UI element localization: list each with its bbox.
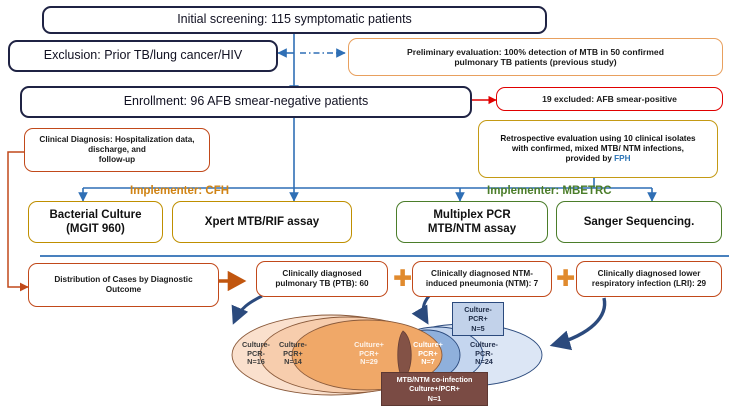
pcr-box-line-1: Culture- [464, 305, 492, 314]
assay-box-sanger: Sanger Sequencing. [556, 201, 722, 243]
preliminary-evaluation-box: Preliminary evaluation: 100% detection o… [348, 38, 723, 76]
plus-icon-1: ✚ [393, 268, 412, 291]
retrospective-line-3-prefix: provided by [565, 154, 614, 163]
flowchart-canvas: Initial screening: 115 symptomatic patie… [0, 0, 729, 410]
outcome-0-line-2: pulmonary TB (PTB): 60 [275, 279, 368, 289]
excluded-smear-positive-label: 19 excluded: AFB smear-positive [542, 94, 677, 104]
outcome-2-line-2: respiratory infection (LRI): 29 [592, 279, 706, 289]
fph-highlight: FPH [614, 154, 630, 163]
outcome-box-lri: Clinically diagnosed lower respiratory i… [576, 261, 722, 297]
distribution-line-1: Distribution of Cases by Diagnostic [54, 275, 192, 285]
assay-box-bacterial-culture: Bacterial Culture (MGIT 960) [28, 201, 163, 243]
venn-ptb-2-line-3: N=29 [347, 358, 391, 367]
assay-box-multiplex-pcr: Multiplex PCR MTB/NTM assay [396, 201, 548, 243]
coinfection-line-3: N=1 [428, 394, 441, 403]
outcome-2-line-1: Clinically diagnosed lower [598, 269, 701, 279]
outcome-0-line-1: Clinically diagnosed [282, 269, 361, 279]
coinfection-line-1: MTB/NTM co-infection [397, 375, 473, 384]
outcome-box-ntm: Clinically diagnosed NTM- induced pneumo… [412, 261, 552, 297]
outcome-1-line-1: Clinically diagnosed NTM- [431, 269, 533, 279]
venn-ptb-1-line-3: N=14 [273, 358, 313, 367]
assay-1-line-1: Xpert MTB/RIF assay [205, 215, 319, 229]
clinical-diagnosis-line-2: follow-up [99, 155, 135, 165]
implementer-mbetrc-label: Implementer: MBETRC [487, 185, 612, 197]
retrospective-line-3: provided by FPH [565, 154, 630, 164]
preliminary-line-1: Preliminary evaluation: 100% detection o… [407, 47, 664, 57]
assay-box-xpert: Xpert MTB/RIF assay [172, 201, 352, 243]
enrollment-label: Enrollment: 96 AFB smear-negative patien… [124, 94, 369, 109]
implementer-cfh-label: Implementer: CFH [130, 185, 229, 197]
initial-screening-box: Initial screening: 115 symptomatic patie… [42, 6, 547, 34]
venn-callout-coinfection: MTB/NTM co-infection Culture+/PCR+ N=1 [381, 372, 488, 406]
venn-ptb-0-line-3: N=16 [236, 358, 276, 367]
assay-2-line-1: Multiplex PCR [433, 208, 510, 222]
pcr-box-line-2: PCR+ [468, 314, 487, 323]
pcr-box-line-3: N=5 [471, 324, 484, 333]
distribution-line-2: Outcome [106, 285, 142, 295]
exclusion-box: Exclusion: Prior TB/lung cancer/HIV [8, 40, 278, 72]
venn-label-ptb-culture-neg-pcr-neg: Culture- PCR- N=16 [236, 341, 276, 367]
assay-3-line-1: Sanger Sequencing. [584, 215, 695, 229]
excluded-smear-positive-box: 19 excluded: AFB smear-positive [496, 87, 723, 111]
venn-label-ptb-culture-pos-pcr-pos: Culture+ PCR+ N=29 [347, 341, 391, 367]
clinical-diagnosis-box: Clinical Diagnosis: Hospitalization data… [24, 128, 210, 172]
retrospective-line-1: Retrospective evaluation using 10 clinic… [500, 134, 695, 144]
outcome-box-ptb: Clinically diagnosed pulmonary TB (PTB):… [256, 261, 388, 297]
venn-label-ptb-culture-neg-pcr-pos: Culture- PCR+ N=14 [273, 341, 313, 367]
venn-ntm-line-3: N=7 [408, 358, 448, 367]
clinical-diagnosis-line-1: Clinical Diagnosis: Hospitalization data… [30, 135, 204, 155]
initial-screening-label: Initial screening: 115 symptomatic patie… [177, 12, 412, 27]
venn-lri-line-3: N=24 [462, 358, 506, 367]
distribution-of-cases-box: Distribution of Cases by Diagnostic Outc… [28, 263, 219, 307]
enrollment-box: Enrollment: 96 AFB smear-negative patien… [20, 86, 472, 118]
coinfection-line-2: Culture+/PCR+ [409, 384, 460, 393]
outcome-1-line-2: induced pneumonia (NTM): 7 [426, 279, 538, 289]
preliminary-line-2: pulmonary TB patients (previous study) [454, 57, 616, 67]
retrospective-evaluation-box: Retrospective evaluation using 10 clinic… [478, 120, 718, 178]
retrospective-line-2: with confirmed, mixed MTB/ NTM infection… [512, 144, 684, 154]
assay-2-line-2: MTB/NTM assay [428, 222, 516, 236]
venn-label-ntm: Culture+ PCR+ N=7 [408, 341, 448, 367]
venn-callout-culture-neg-pcr-pos: Culture- PCR+ N=5 [452, 302, 504, 336]
assay-0-line-1: Bacterial Culture [49, 208, 141, 222]
assay-0-line-2: (MGIT 960) [66, 222, 125, 236]
exclusion-label: Exclusion: Prior TB/lung cancer/HIV [44, 48, 242, 63]
plus-icon-2: ✚ [556, 268, 575, 291]
venn-label-lri: Culture- PCR- N=24 [462, 341, 506, 367]
